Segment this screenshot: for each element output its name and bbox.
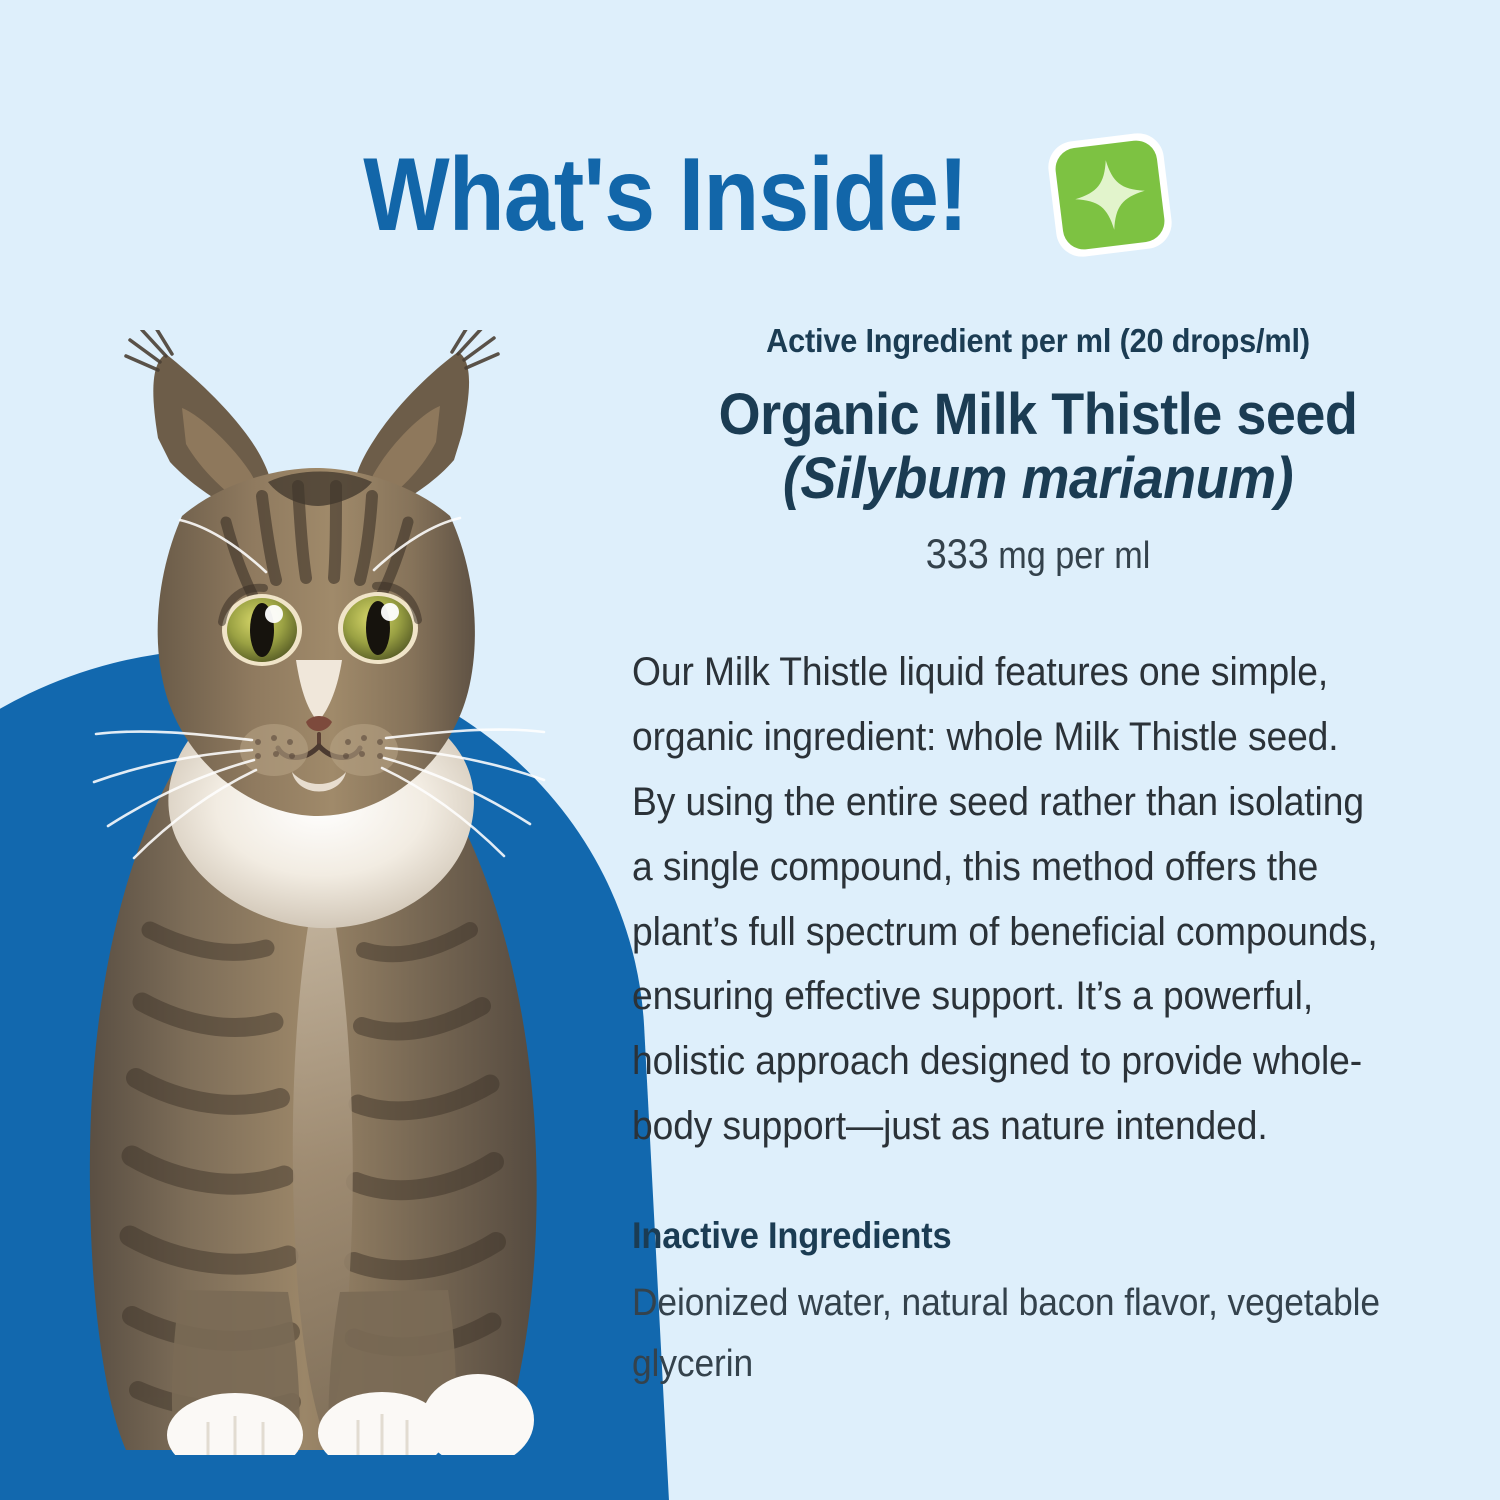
sparkle-icon — [1042, 127, 1178, 263]
inactive-ingredients-list: Deionized water, natural bacon flavor, v… — [632, 1273, 1387, 1395]
active-ingredient-label: Active Ingredient per ml (20 drops/ml) — [660, 322, 1415, 360]
cat-photo — [30, 330, 590, 1455]
header: What's Inside! — [0, 110, 1500, 280]
page-title: What's Inside! — [363, 143, 967, 247]
product-name: Organic Milk Thistle seed — [660, 384, 1415, 447]
infographic-canvas: What's Inside! — [0, 0, 1500, 1500]
product-description: Our Milk Thistle liquid features one sim… — [632, 640, 1387, 1158]
dosage-amount: 333 — [926, 530, 989, 577]
dosage-unit: mg per ml — [998, 535, 1150, 577]
dosage-line: 333 mg per ml — [673, 530, 1404, 578]
cat-eye-right — [338, 592, 418, 664]
ingredient-panel: Active Ingredient per ml (20 drops/ml) O… — [632, 322, 1444, 1394]
inactive-ingredients-heading: Inactive Ingredients — [632, 1215, 1387, 1257]
product-latin-name: (Silybum marianum) — [660, 447, 1415, 511]
cat-eye-left — [222, 594, 302, 666]
